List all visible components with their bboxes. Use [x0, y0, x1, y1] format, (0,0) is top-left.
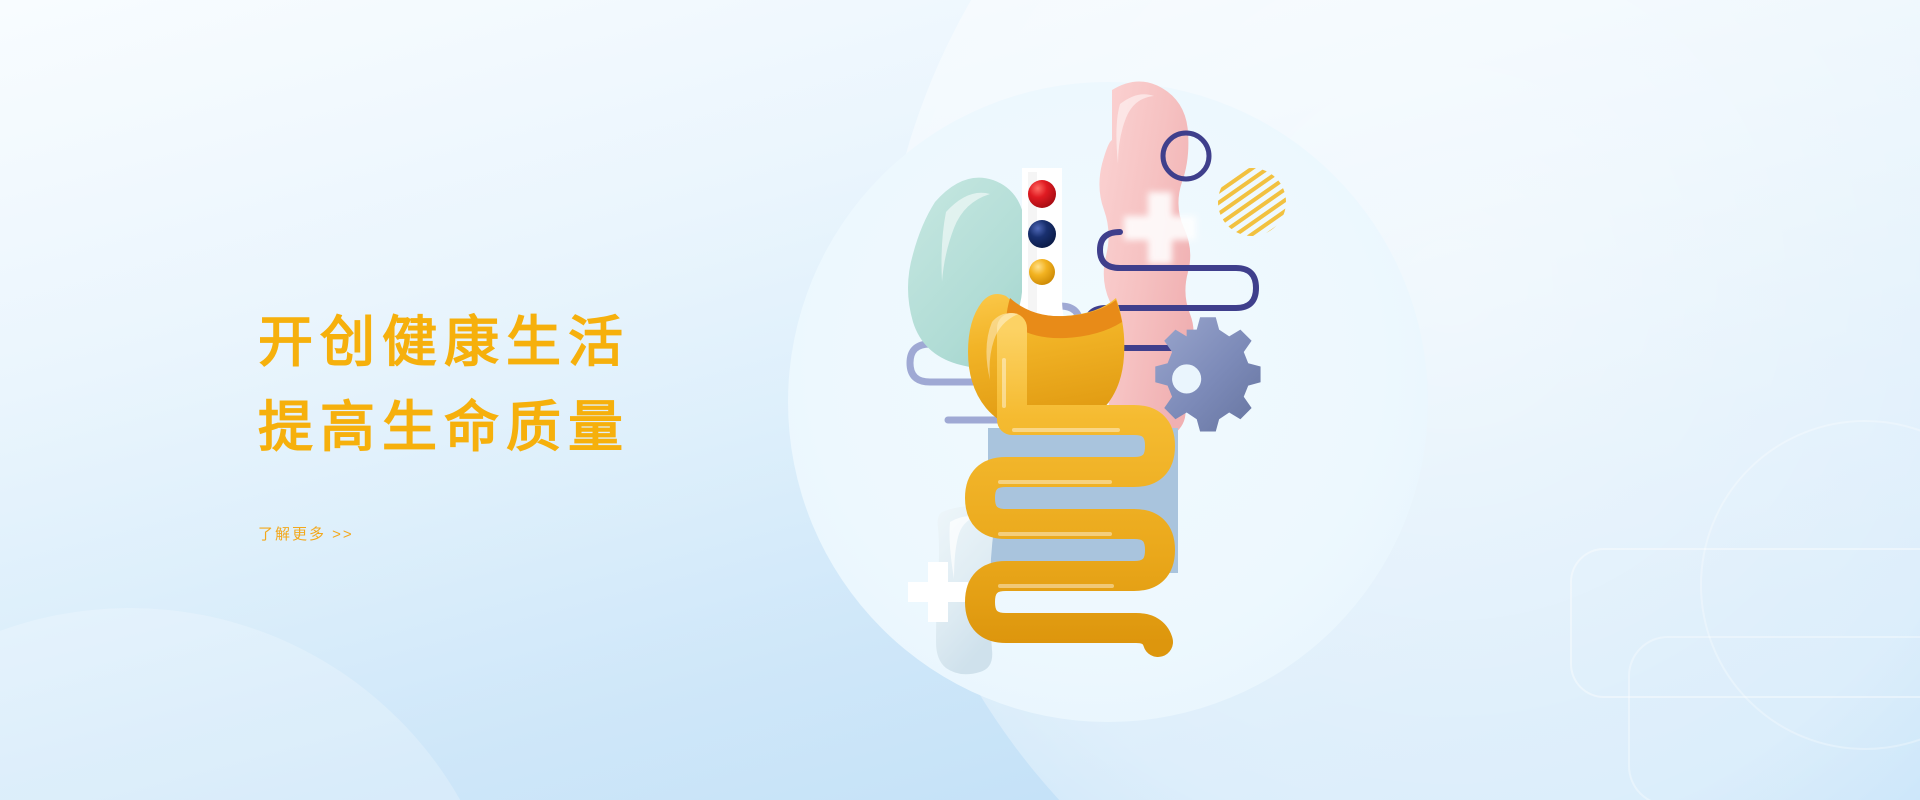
learn-more-link[interactable]: 了解更多 >> — [258, 523, 354, 544]
background-rounded-line-two — [1628, 636, 1920, 800]
hero-copy-block: 开创健康生活 提高生命质量 了解更多 >> — [258, 300, 878, 544]
hero-banner: 开创健康生活 提高生命质量 了解更多 >> — [0, 0, 1920, 800]
background-corner-circle — [0, 608, 510, 800]
dot-amber-icon — [1029, 259, 1055, 285]
dot-red-icon — [1028, 180, 1056, 208]
gear-large-icon — [1155, 317, 1260, 431]
dot-navy-icon — [1028, 220, 1056, 248]
background-rounded-line-one — [1570, 548, 1920, 698]
striped-circle-icon — [1218, 168, 1286, 236]
headline-line-1: 开创健康生活 — [258, 300, 878, 385]
background-circle-outline — [1700, 420, 1920, 750]
headline-line-2: 提高生命质量 — [258, 385, 878, 470]
